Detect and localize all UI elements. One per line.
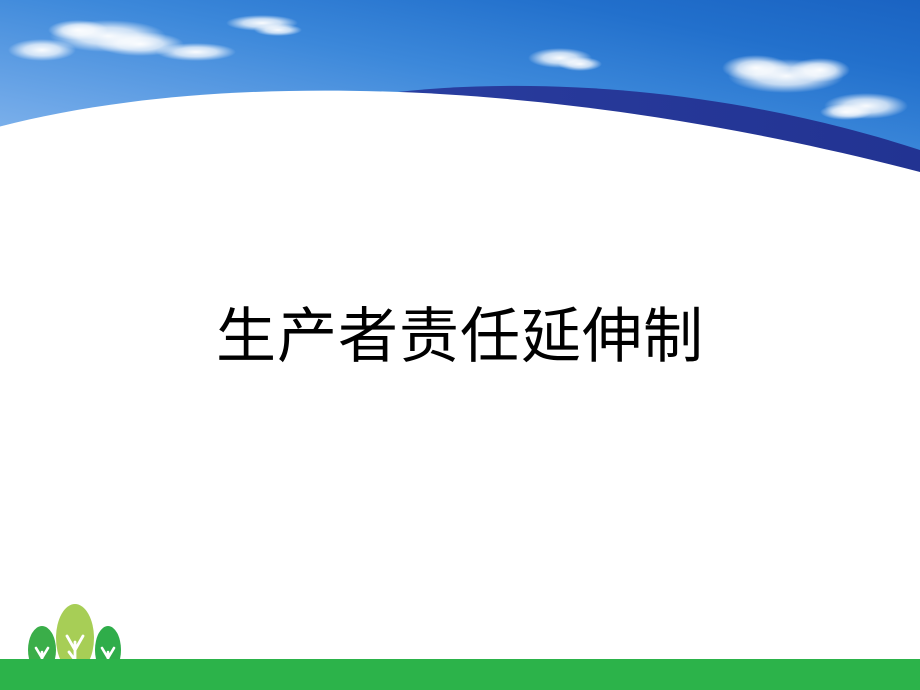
presentation-slide: 生产者责任延伸制 <box>0 0 920 690</box>
footer-green-band <box>0 659 920 690</box>
sky-graphic <box>0 0 920 180</box>
tree-ground-strip <box>20 659 130 690</box>
cloud-right-main-c <box>790 58 850 82</box>
sky-banner <box>0 0 920 180</box>
cloud-right-lower-b <box>820 104 872 120</box>
footer-tree-decoration <box>20 598 130 690</box>
cloud-left-trail <box>156 43 236 61</box>
cloud-upper-left-c <box>48 20 108 40</box>
cloud-mid-right-b <box>558 57 602 71</box>
trees-graphic <box>20 598 130 690</box>
cloud-center-wisp-b <box>254 24 302 36</box>
title-block: 生产者责任延伸制 <box>0 300 920 374</box>
cloud-right-main-b <box>722 55 790 81</box>
page-title: 生产者责任延伸制 <box>216 300 704 374</box>
